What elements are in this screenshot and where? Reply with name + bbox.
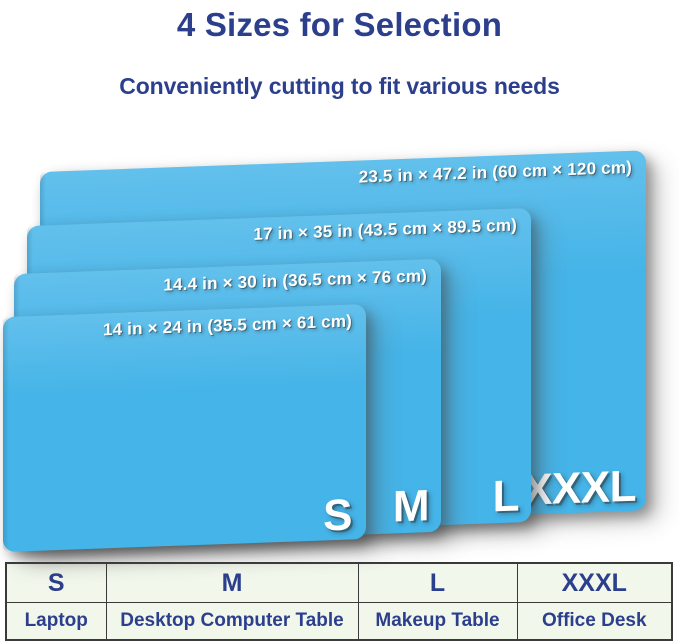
table-cell-size-l: L <box>358 563 517 603</box>
mat-xxxl-size-letter: XXXL <box>523 465 636 513</box>
table-cell-use-m: Desktop Computer Table <box>106 603 358 641</box>
mat-l-size-letter: L <box>493 474 519 519</box>
mat-s: 14 in × 24 in (35.5 cm × 61 cm) S <box>3 304 366 552</box>
mat-l-dimensions: 17 in × 35 in (43.5 cm × 89.5 cm) <box>253 215 517 244</box>
table-row-sizes: S M L XXXL <box>6 563 672 603</box>
mat-xxxl-dimensions: 23.5 in × 47.2 in (60 cm × 120 cm) <box>359 158 632 188</box>
mat-m-size-letter: M <box>393 484 429 529</box>
table-cell-size-m: M <box>106 563 358 603</box>
table-cell-size-s: S <box>6 563 106 603</box>
table-row-uses: Laptop Desktop Computer Table Makeup Tab… <box>6 603 672 641</box>
table-cell-use-l: Makeup Table <box>358 603 517 641</box>
table-cell-use-xxxl: Office Desk <box>517 603 672 641</box>
table-cell-size-xxxl: XXXL <box>517 563 672 603</box>
mat-s-size-letter: S <box>323 494 352 539</box>
size-usage-table: S M L XXXL Laptop Desktop Computer Table… <box>5 562 673 641</box>
mat-m-dimensions: 14.4 in × 30 in (36.5 cm × 76 cm) <box>163 266 427 295</box>
table-cell-use-s: Laptop <box>6 603 106 641</box>
mat-s-dimensions: 14 in × 24 in (35.5 cm × 61 cm) <box>103 312 352 341</box>
mats-illustration: 23.5 in × 47.2 in (60 cm × 120 cm) XXXL … <box>0 0 679 560</box>
